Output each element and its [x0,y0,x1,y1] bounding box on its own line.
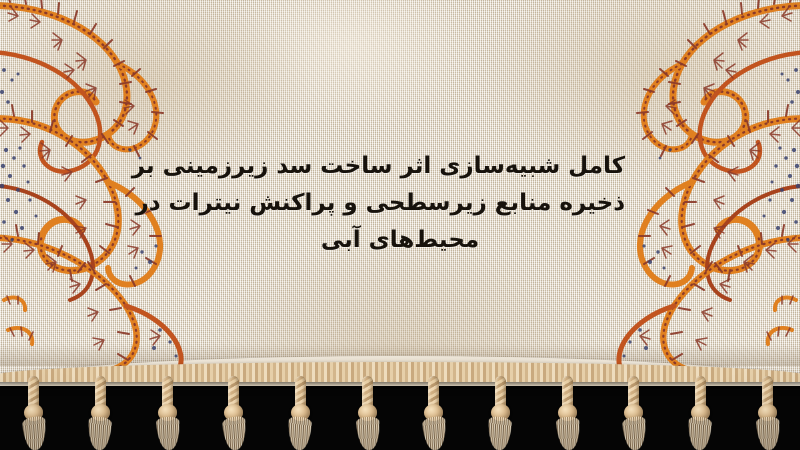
tassel-skirt [556,416,581,450]
title-line-1: کامل شبیه‌سازی اثر ساخت سد زیرزمینی بر [175,148,625,185]
tassel-skirt [222,415,247,450]
title-line-3: محیط‌های آبی [175,222,625,259]
tassel-fringe [0,362,800,450]
title-card-canvas: کامل شبیه‌سازی اثر ساخت سد زیرزمینی بر ذ… [0,0,800,450]
tassel-skirt [87,416,112,450]
tassel [687,376,713,450]
tassel-skirt [356,416,381,450]
tassel-skirt [487,416,512,450]
tassel [220,376,246,450]
tassel [154,376,180,450]
tassel-skirt [687,416,712,450]
tassel-skirt [156,416,181,450]
tassel-skirt [422,415,447,450]
tassel [287,376,313,450]
tassel [620,376,646,450]
tassel-skirt [622,415,647,450]
tassel [554,376,580,450]
tassel [20,376,46,450]
tassel-skirt [22,415,47,450]
tassel [87,376,113,450]
tassel-skirt [287,416,312,450]
tassel [420,376,446,450]
fringe-band [0,362,800,382]
tassel [354,376,380,450]
tassel [754,376,780,450]
tassel-skirt [756,416,781,450]
tassel [487,376,513,450]
title-line-2: ذخیره منابع زیرسطحی و پراکنش نیترات در [175,185,625,222]
page-title: کامل شبیه‌سازی اثر ساخت سد زیرزمینی بر ذ… [175,148,625,259]
